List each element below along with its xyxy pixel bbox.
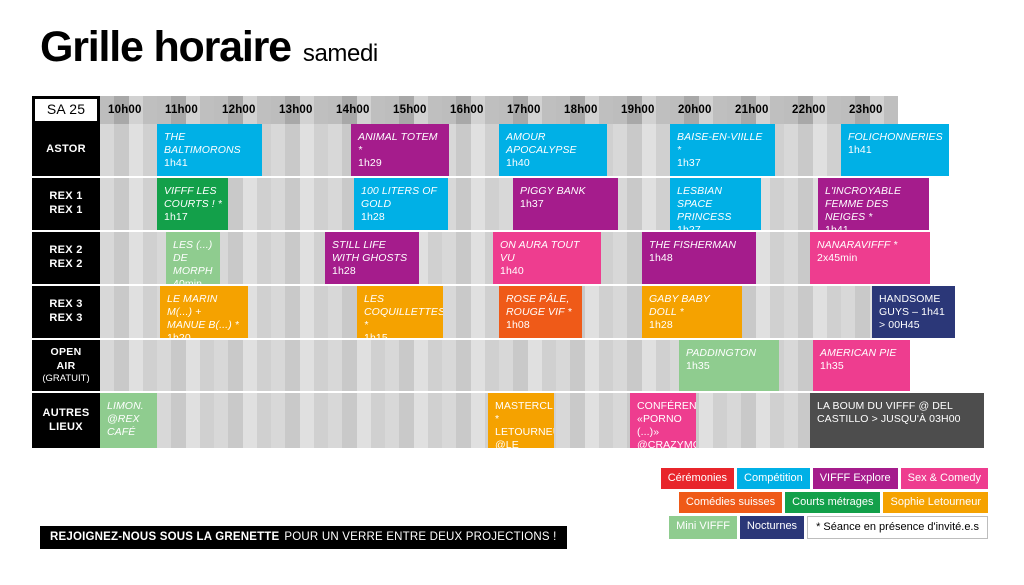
hour-label-21: 21h00 [735,96,769,124]
quarter-hour-stripe [485,178,499,230]
quarter-hour-stripe [129,232,143,284]
legend-chip: Mini VIFFF [669,516,737,539]
quarter-hour-stripe [627,232,641,284]
quarter-hour-stripe [471,178,485,230]
quarter-hour-stripe [399,340,413,391]
hour-column [442,286,499,338]
quarter-hour-stripe [328,178,342,230]
quarter-hour-stripe [656,340,670,391]
quarter-hour-stripe [855,286,869,338]
legend-chip: Nocturnes [740,516,804,539]
quarter-hour-stripe [342,286,356,338]
venue-label-rex2: REX 2REX 2 [32,232,100,284]
schedule-grid: SA 25 10h0011h0012h0013h0014h0015h0016h0… [32,96,992,448]
quarter-hour-stripe [613,340,627,391]
quarter-hour-stripe [129,178,143,230]
event-duration: 1h41 [825,224,923,230]
quarter-hour-stripe [257,286,271,338]
legend-row: Mini VIFFFNocturnes* Séance en présence … [669,516,988,539]
event-duration: 1h37 [677,157,769,170]
hour-column [727,393,784,448]
hour-label-14: 14h00 [336,96,370,124]
hour-column [214,340,271,391]
event-duration: 1h17 [164,211,222,224]
timeline-lane-open-air: PADDINGTON1h35AMERICAN PIE1h35 [100,340,992,391]
quarter-hour-stripe [613,232,627,284]
hour-column [328,393,385,448]
event-title: BAISE-EN-VIILLE * [677,131,769,157]
quarter-hour-stripe [271,393,285,448]
quarter-hour-stripe [570,393,584,448]
quarter-hour-stripe [798,340,812,391]
hour-label-19: 19h00 [621,96,655,124]
event-title: GABY BABY DOLL * [649,293,736,319]
hour-column [556,393,613,448]
event-duration: > 00H45 [879,319,949,332]
quarter-hour-stripe [585,340,599,391]
quarter-hour-stripe [756,232,770,284]
quarter-hour-stripe [741,286,755,338]
quarter-hour-stripe [542,340,556,391]
quarter-hour-stripe [114,340,128,391]
quarter-hour-stripe [713,393,727,448]
event-block[interactable]: ANIMAL TOTEM *1h29 [351,124,449,176]
event-duration: 1h28 [361,211,442,224]
venue-label-text: AUTRES [42,407,89,421]
hour-column [385,340,442,391]
hour-column [613,340,670,391]
venue-label-text: LIEUX [49,421,83,435]
quarter-hour-stripe [300,232,314,284]
hour-column [271,232,328,284]
hour-column [271,393,328,448]
event-duration: 1h08 [506,319,576,332]
event-title: LE MARIN M(...) + MANUE B(...) * [167,293,242,332]
quarter-hour-stripe [328,340,342,391]
quarter-hour-stripe [285,178,299,230]
quarter-hour-stripe [357,393,371,448]
event-duration: 1h27 [677,224,755,230]
venue-row-rex1: REX 1REX 1VIFFF LES COURTS ! *1h17100 LI… [32,178,992,230]
venue-sublabel: (GRATUIT) [42,373,89,385]
venue-row-astor: ASTORTHE BALTIMORONS1h41ANIMAL TOTEM *1h… [32,124,992,176]
quarter-hour-stripe [585,286,599,338]
quarter-hour-stripe [699,393,713,448]
event-block[interactable]: L'INCROYABLE FEMME DES NEIGES *1h41 [818,178,929,230]
quarter-hour-stripe [770,232,784,284]
event-duration: 1h37 [520,198,612,211]
quarter-hour-stripe [100,340,114,391]
quarter-hour-stripe [528,340,542,391]
timeline-lane-rex1: VIFFF LES COURTS ! *1h17100 LITERS OF GO… [100,178,992,230]
event-title: MASTERCL. * LETOURNEUR @LE REFLET [495,400,548,448]
event-block[interactable]: 100 LITERS OF GOLD1h28 [354,178,448,230]
quarter-hour-stripe [228,232,242,284]
legend-chip: Sophie Letourneur [883,492,988,513]
quarter-hour-stripe [827,124,841,176]
event-duration: 1h15 [364,332,437,338]
quarter-hour-stripe [200,340,214,391]
quarter-hour-stripe [214,340,228,391]
event-block[interactable]: LE MARIN M(...) + MANUE B(...) *1h20 [160,286,248,338]
venue-row-autres-lieux: AUTRESLIEUXLIMON. @REX CAFÉMASTERCL. * L… [32,393,992,448]
footer-rest-text: POUR UN VERRE ENTRE DEUX PROJECTIONS ! [284,531,556,543]
event-title: STILL LIFE WITH GHOSTS [332,239,413,265]
venue-label-rex3: REX 3REX 3 [32,286,100,338]
hour-ruler: 10h0011h0012h0013h0014h0015h0016h0017h00… [100,96,992,124]
event-title: ON AURA TOUT VU [500,239,595,265]
quarter-hour-stripe [100,178,114,230]
venue-label-text: OPEN [51,346,82,359]
quarter-hour-stripe [114,124,128,176]
venue-label-text: REX 1 [49,190,82,204]
quarter-hour-stripe [556,340,570,391]
venue-label-text: REX 3 [49,312,82,326]
quarter-hour-stripe [656,178,670,230]
quarter-hour-stripe [428,340,442,391]
hour-label-23: 23h00 [849,96,883,124]
event-duration: 1h41 [848,144,943,157]
quarter-hour-stripe [499,340,513,391]
event-block[interactable]: HANDSOME GUYS – 1h41> 00H45 [872,286,955,338]
quarter-hour-stripe [243,178,257,230]
hour-column [157,393,214,448]
hour-column [385,393,442,448]
hour-label-12: 12h00 [222,96,256,124]
quarter-hour-stripe [314,124,328,176]
quarter-hour-stripe [271,178,285,230]
quarter-hour-stripe [243,232,257,284]
quarter-hour-stripe [456,286,470,338]
quarter-hour-stripe [570,340,584,391]
event-duration: 2x45min [817,252,924,265]
quarter-hour-stripe [257,340,271,391]
quarter-hour-stripe [371,340,385,391]
quarter-hour-stripe [613,393,627,448]
hour-column [328,340,385,391]
quarter-hour-stripe [770,393,784,448]
quarter-hour-stripe [841,286,855,338]
quarter-hour-stripe [784,124,798,176]
quarter-hour-stripe [314,393,328,448]
event-title: 100 LITERS OF GOLD [361,185,442,211]
quarter-hour-stripe [784,286,798,338]
quarter-hour-stripe [414,393,428,448]
event-block[interactable]: GABY BABY DOLL *1h28 [642,286,742,338]
event-duration: 1h41 [164,157,256,170]
event-duration: 1h29 [358,157,443,170]
event-title: AMERICAN PIE [820,347,904,360]
legend-chip: Compétition [737,468,810,489]
hour-column [442,178,499,230]
venue-label-open-air: OPENAIR(GRATUIT) [32,340,100,391]
event-block[interactable]: NANARAVIFFF *2x45min [810,232,930,284]
quarter-hour-stripe [157,393,171,448]
event-duration: 1h48 [649,252,750,265]
day-badge: SA 25 [35,99,97,121]
event-title: LES (...) DE MORPH [173,239,214,278]
quarter-hour-stripe [813,124,827,176]
hour-column [214,393,271,448]
quarter-hour-stripe [114,178,128,230]
quarter-hour-stripe [456,124,470,176]
quarter-hour-stripe [756,393,770,448]
event-title: LA BOUM DU VIFFF @ DEL CASTILLO > JUSQU'… [817,400,978,426]
event-title: AMOUR APOCALYPSE [506,131,601,157]
event-title: PIGGY BANK [520,185,612,198]
legend-chip: VIFFF Explore [813,468,898,489]
quarter-hour-stripe [100,286,114,338]
event-title: VIFFF LES COURTS ! * [164,185,222,211]
quarter-hour-stripe [285,393,299,448]
quarter-hour-stripe [813,286,827,338]
quarter-hour-stripe [314,178,328,230]
hour-column [271,178,328,230]
quarter-hour-stripe [143,232,157,284]
event-duration: 1h28 [332,265,413,278]
hour-column [442,340,499,391]
day-badge-cell: SA 25 [32,96,100,124]
quarter-hour-stripe [642,178,656,230]
quarter-hour-stripe [599,393,613,448]
event-block[interactable]: LIMON. @REX CAFÉ [100,393,157,448]
quarter-hour-stripe [471,232,485,284]
quarter-hour-stripe [385,393,399,448]
legend-row: CérémoniesCompétitionVIFFF ExploreSex & … [661,468,988,489]
timeline-lane-autres-lieux: LIMON. @REX CAFÉMASTERCL. * LETOURNEUR @… [100,393,992,448]
quarter-hour-stripe [100,124,114,176]
event-block[interactable]: LES COQUILLETTES *1h15 [357,286,443,338]
footer-banner: REJOIGNEZ-NOUS SOUS LA GRENETTE POUR UN … [40,526,567,549]
event-duration: 1h35 [820,360,904,373]
venue-row-rex3: REX 3REX 3LE MARIN M(...) + MANUE B(...)… [32,286,992,338]
hour-column [100,178,157,230]
event-duration: 1h40 [506,157,601,170]
quarter-hour-stripe [784,340,798,391]
event-block[interactable]: STILL LIFE WITH GHOSTS1h28 [325,232,419,284]
title-subtitle: samedi [303,42,378,66]
quarter-hour-stripe [599,340,613,391]
quarter-hour-stripe [471,340,485,391]
quarter-hour-stripe [741,393,755,448]
quarter-hour-stripe [186,340,200,391]
event-title: L'INCROYABLE FEMME DES NEIGES * [825,185,923,224]
quarter-hour-stripe [328,124,342,176]
timeline-lane-rex3: LE MARIN M(...) + MANUE B(...) *1h20LES … [100,286,992,338]
quarter-hour-stripe [485,286,499,338]
event-block[interactable]: ON AURA TOUT VU1h40 [493,232,601,284]
legend-row: Comédies suissesCourts métragesSophie Le… [679,492,988,513]
quarter-hour-stripe [471,286,485,338]
quarter-hour-stripe [357,340,371,391]
event-block[interactable]: BAISE-EN-VIILLE *1h37 [670,124,775,176]
quarter-hour-stripe [300,178,314,230]
hour-label-13: 13h00 [279,96,313,124]
hour-label-10: 10h00 [108,96,142,124]
quarter-hour-stripe [228,178,242,230]
quarter-hour-stripe [784,178,798,230]
legend-chip: Sex & Comedy [901,468,988,489]
hour-label-17: 17h00 [507,96,541,124]
quarter-hour-stripe [456,340,470,391]
quarter-hour-stripe [271,232,285,284]
event-title: THE BALTIMORONS [164,131,256,157]
event-block[interactable]: PIGGY BANK1h37 [513,178,618,230]
quarter-hour-stripe [727,393,741,448]
quarter-hour-stripe [770,178,784,230]
event-title: HANDSOME GUYS – 1h41 [879,293,949,319]
event-block[interactable]: LA BOUM DU VIFFF @ DEL CASTILLO > JUSQU'… [810,393,984,448]
hour-column [271,286,328,338]
quarter-hour-stripe [143,178,157,230]
quarter-hour-stripe [243,340,257,391]
event-title: LESBIAN SPACE PRINCESS [677,185,755,224]
quarter-hour-stripe [442,393,456,448]
hour-label-20: 20h00 [678,96,712,124]
event-title: ROSE PÂLE, ROUGE VIF * [506,293,576,319]
quarter-hour-stripe [613,124,627,176]
event-block[interactable]: LES (...) DE MORPH40min [166,232,220,284]
quarter-hour-stripe [143,286,157,338]
hour-column [784,286,841,338]
hour-column [100,232,157,284]
quarter-hour-stripe [471,124,485,176]
event-block[interactable]: AMERICAN PIE1h35 [813,340,910,391]
event-block[interactable]: CONFÉRENCE «PORNO (...)» @CRAZYMOON [630,393,696,448]
hour-column [214,232,271,284]
hour-column [271,340,328,391]
quarter-hour-stripe [271,124,285,176]
quarter-hour-stripe [770,286,784,338]
quarter-hour-stripe [129,286,143,338]
quarter-hour-stripe [157,340,171,391]
quarter-hour-stripe [456,178,470,230]
venue-label-text: AIR [57,360,76,373]
event-block[interactable]: AMOUR APOCALYPSE1h40 [499,124,607,176]
quarter-hour-stripe [171,393,185,448]
hour-column [100,124,157,176]
quarter-hour-stripe [428,393,442,448]
venue-row-open-air: OPENAIR(GRATUIT)PADDINGTON1h35AMERICAN P… [32,340,992,391]
quarter-hour-stripe [143,124,157,176]
hour-label-15: 15h00 [393,96,427,124]
venue-label-text: REX 2 [49,244,82,258]
footer-bold-text: REJOIGNEZ-NOUS SOUS LA GRENETTE [50,531,279,543]
quarter-hour-stripe [200,393,214,448]
quarter-hour-stripe [285,286,299,338]
hour-label-18: 18h00 [564,96,598,124]
hour-column [499,340,556,391]
quarter-hour-stripe [414,340,428,391]
hour-column [157,340,214,391]
quarter-hour-stripe [556,393,570,448]
quarter-hour-stripe [798,286,812,338]
event-title: FOLICHONNERIES [848,131,943,144]
hour-column [556,340,613,391]
legend: CérémoniesCompétitionVIFFF ExploreSex & … [661,468,988,539]
quarter-hour-stripe [627,178,641,230]
quarter-hour-stripe [656,124,670,176]
quarter-hour-stripe [300,340,314,391]
legend-chip: Courts métrages [785,492,880,513]
venue-row-rex2: REX 2REX 2LES (...) DE MORPH40minSTILL L… [32,232,992,284]
page-title: Grille horaire samedi [40,26,378,69]
schedule-poster: Grille horaire samedi SA 25 10h0011h0012… [0,0,1024,585]
venue-label-text: REX 1 [49,204,82,218]
hour-column [442,232,499,284]
quarter-hour-stripe [114,286,128,338]
event-block[interactable]: FOLICHONNERIES1h41 [841,124,949,176]
venue-label-text: REX 3 [49,298,82,312]
event-duration: 1h28 [649,319,736,332]
quarter-hour-stripe [442,232,456,284]
quarter-hour-stripe [371,393,385,448]
hour-labels: 10h0011h0012h0013h0014h0015h0016h0017h00… [100,96,992,124]
event-block[interactable]: THE FISHERMAN1h48 [642,232,756,284]
hour-column [613,124,670,176]
quarter-hour-stripe [342,393,356,448]
quarter-hour-stripe [257,232,271,284]
legend-chip: Comédies suisses [679,492,782,513]
event-title: PADDINGTON [686,347,773,360]
event-title: LIMON. @REX CAFÉ [107,400,151,439]
quarter-hour-stripe [399,393,413,448]
quarter-hour-stripe [300,286,314,338]
event-block[interactable]: MASTERCL. * LETOURNEUR @LE REFLET [488,393,554,448]
timeline-lane-rex2: LES (...) DE MORPH40minSTILL LIFE WITH G… [100,232,992,284]
legend-chip: Cérémonies [661,468,734,489]
hour-column [271,124,328,176]
event-title: ANIMAL TOTEM * [358,131,443,157]
venue-label-text: ASTOR [46,143,86,157]
quarter-hour-stripe [599,286,613,338]
title-main: Grille horaire [40,26,291,69]
event-block[interactable]: LESBIAN SPACE PRINCESS1h27 [670,178,761,230]
quarter-hour-stripe [129,340,143,391]
hour-header-row: SA 25 10h0011h0012h0013h0014h0015h0016h0… [32,96,992,124]
quarter-hour-stripe [228,393,242,448]
event-block[interactable]: THE BALTIMORONS1h41 [157,124,262,176]
event-duration: 1h20 [167,332,242,338]
event-duration: 40min [173,278,214,284]
quarter-hour-stripe [485,340,499,391]
quarter-hour-stripe [171,340,185,391]
event-block[interactable]: PADDINGTON1h35 [679,340,779,391]
quarter-hour-stripe [499,178,513,230]
hour-column [100,340,157,391]
quarter-hour-stripe [271,286,285,338]
venue-label-autres-lieux: AUTRESLIEUX [32,393,100,448]
quarter-hour-stripe [471,393,485,448]
quarter-hour-stripe [300,393,314,448]
quarter-hour-stripe [627,124,641,176]
quarter-hour-stripe [186,393,200,448]
quarter-hour-stripe [513,340,527,391]
quarter-hour-stripe [328,393,342,448]
quarter-hour-stripe [243,393,257,448]
quarter-hour-stripe [585,393,599,448]
quarter-hour-stripe [456,393,470,448]
quarter-hour-stripe [456,232,470,284]
hour-column [613,178,670,230]
quarter-hour-stripe [129,124,143,176]
quarter-hour-stripe [114,232,128,284]
event-block[interactable]: VIFFF LES COURTS ! *1h17 [157,178,228,230]
quarter-hour-stripe [627,340,641,391]
event-block[interactable]: ROSE PÂLE, ROUGE VIF *1h08 [499,286,582,338]
event-title: THE FISHERMAN [649,239,750,252]
quarter-hour-stripe [627,286,641,338]
